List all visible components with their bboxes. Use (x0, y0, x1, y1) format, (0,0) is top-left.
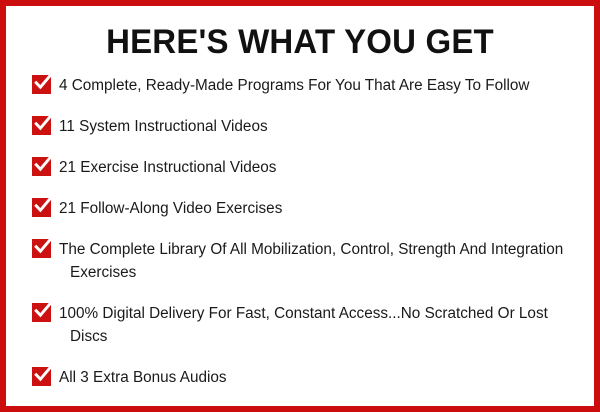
checkmark-icon (32, 367, 51, 386)
checkmark-icon (32, 303, 51, 322)
list-item: 11 System Instructional Videos (32, 115, 576, 138)
list-item-label: 21 Exercise Instructional Videos (58, 156, 276, 179)
list-item-line-1: All 3 Extra Bonus Audios (59, 369, 227, 386)
list-item-line-1: 21 Follow-Along Video Exercises (59, 200, 282, 217)
list-item-label: 21 Follow-Along Video Exercises (58, 197, 282, 220)
list-item: 4 Complete, Ready-Made Programs For You … (32, 74, 576, 97)
list-item-label: 100% Digital Delivery For Fast, Constant… (58, 302, 548, 348)
list-item: 21 Exercise Instructional Videos (32, 156, 576, 179)
list-item: All 3 Extra Bonus Audios (32, 366, 576, 389)
list-item-label: All 3 Extra Bonus Audios (58, 366, 227, 389)
offer-card: HERE'S WHAT YOU GET 4 Complete, Ready-Ma… (0, 0, 600, 412)
list-item-label: 4 Complete, Ready-Made Programs For You … (58, 74, 529, 97)
checkmark-icon (32, 116, 51, 135)
list-item-line-2: Exercises (59, 261, 563, 284)
list-item: 21 Follow-Along Video Exercises (32, 197, 576, 220)
list-item-line-1: 11 System Instructional Videos (59, 118, 268, 135)
list-item-line-1: 4 Complete, Ready-Made Programs For You … (59, 77, 529, 94)
checkmark-icon (32, 75, 51, 94)
list-item-label: 11 System Instructional Videos (58, 115, 268, 138)
list-item-line-1: 100% Digital Delivery For Fast, Constant… (59, 305, 548, 322)
list-item: 100% Digital Delivery For Fast, Constant… (32, 302, 576, 348)
benefits-checklist: 4 Complete, Ready-Made Programs For You … (6, 62, 594, 389)
list-item-line-2: Discs (59, 325, 548, 348)
checkmark-icon (32, 157, 51, 176)
list-item-line-1: The Complete Library Of All Mobilization… (59, 241, 563, 258)
checkmark-icon (32, 239, 51, 258)
checkmark-icon (32, 198, 51, 217)
list-item-line-1: 21 Exercise Instructional Videos (59, 159, 276, 176)
list-item-label: The Complete Library Of All Mobilization… (58, 238, 563, 284)
list-item: The Complete Library Of All Mobilization… (32, 238, 576, 284)
page-title: HERE'S WHAT YOU GET (15, 6, 585, 62)
